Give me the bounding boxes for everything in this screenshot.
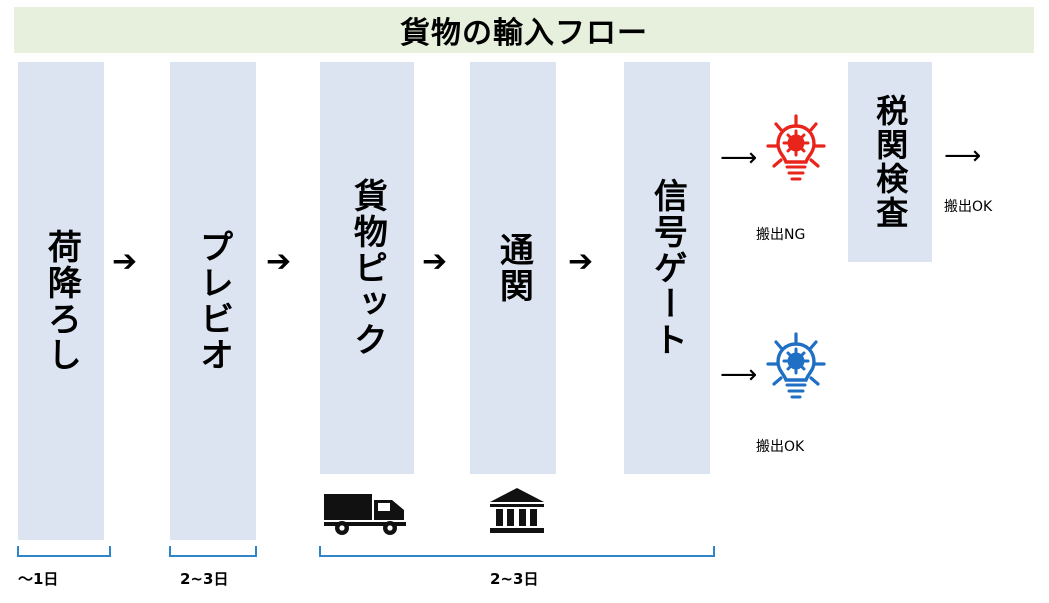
ng-bulb-icon — [760, 112, 832, 197]
arrow-to-ng-bulb: ⟶ — [720, 145, 757, 171]
title-banner: 貨物の輸入フロー — [14, 7, 1034, 53]
stage-label-previo: プレビオ — [195, 229, 232, 373]
duration-customs: 2~3日 — [490, 568, 538, 589]
final-arrow-caption: 搬出OK — [944, 196, 992, 216]
stage-box-customs-clearance: 通関 — [470, 62, 556, 474]
stage-label-customs-inspection: 税関検査 — [873, 94, 908, 230]
stage-label-cargo-pick: 貨物ピック — [349, 178, 386, 358]
bracket-previo — [168, 544, 258, 565]
duration-unload: 〜1日 — [18, 568, 58, 589]
stage-box-previo: プレビオ — [170, 62, 256, 540]
stage-box-signal-gate: 信号ゲート — [624, 62, 710, 474]
duration-previo: 2~3日 — [180, 568, 228, 589]
arrow-2: ➔ — [266, 247, 291, 277]
arrow-to-ok-bulb: ⟶ — [720, 362, 757, 388]
arrow-4: ➔ — [568, 247, 593, 277]
ok-bulb-icon — [760, 330, 832, 415]
stage-box-unload: 荷降ろし — [18, 62, 104, 540]
bank-icon — [488, 486, 546, 541]
page-title: 貨物の輸入フロー — [400, 8, 648, 52]
stage-label-unload: 荷降ろし — [43, 229, 80, 373]
arrow-3: ➔ — [422, 247, 447, 277]
bracket-unload — [16, 544, 112, 565]
flow-diagram-canvas: 貨物の輸入フロー 荷降ろし ➔ プレビオ ➔ 貨物ピック ➔ 通関 ➔ 信号ゲー… — [0, 0, 1049, 603]
stage-label-signal-gate: 信号ゲート — [649, 178, 686, 358]
bracket-customs — [318, 544, 716, 565]
ok-bulb-caption: 搬出OK — [756, 436, 804, 456]
stage-label-customs-clearance: 通関 — [495, 232, 532, 304]
stage-box-customs-inspection: 税関検査 — [848, 62, 932, 262]
final-arrow: ⟶ — [944, 143, 981, 169]
stage-box-cargo-pick: 貨物ピック — [320, 62, 414, 474]
truck-icon — [322, 486, 414, 541]
arrow-1: ➔ — [112, 247, 137, 277]
ng-bulb-caption: 搬出NG — [756, 224, 805, 244]
